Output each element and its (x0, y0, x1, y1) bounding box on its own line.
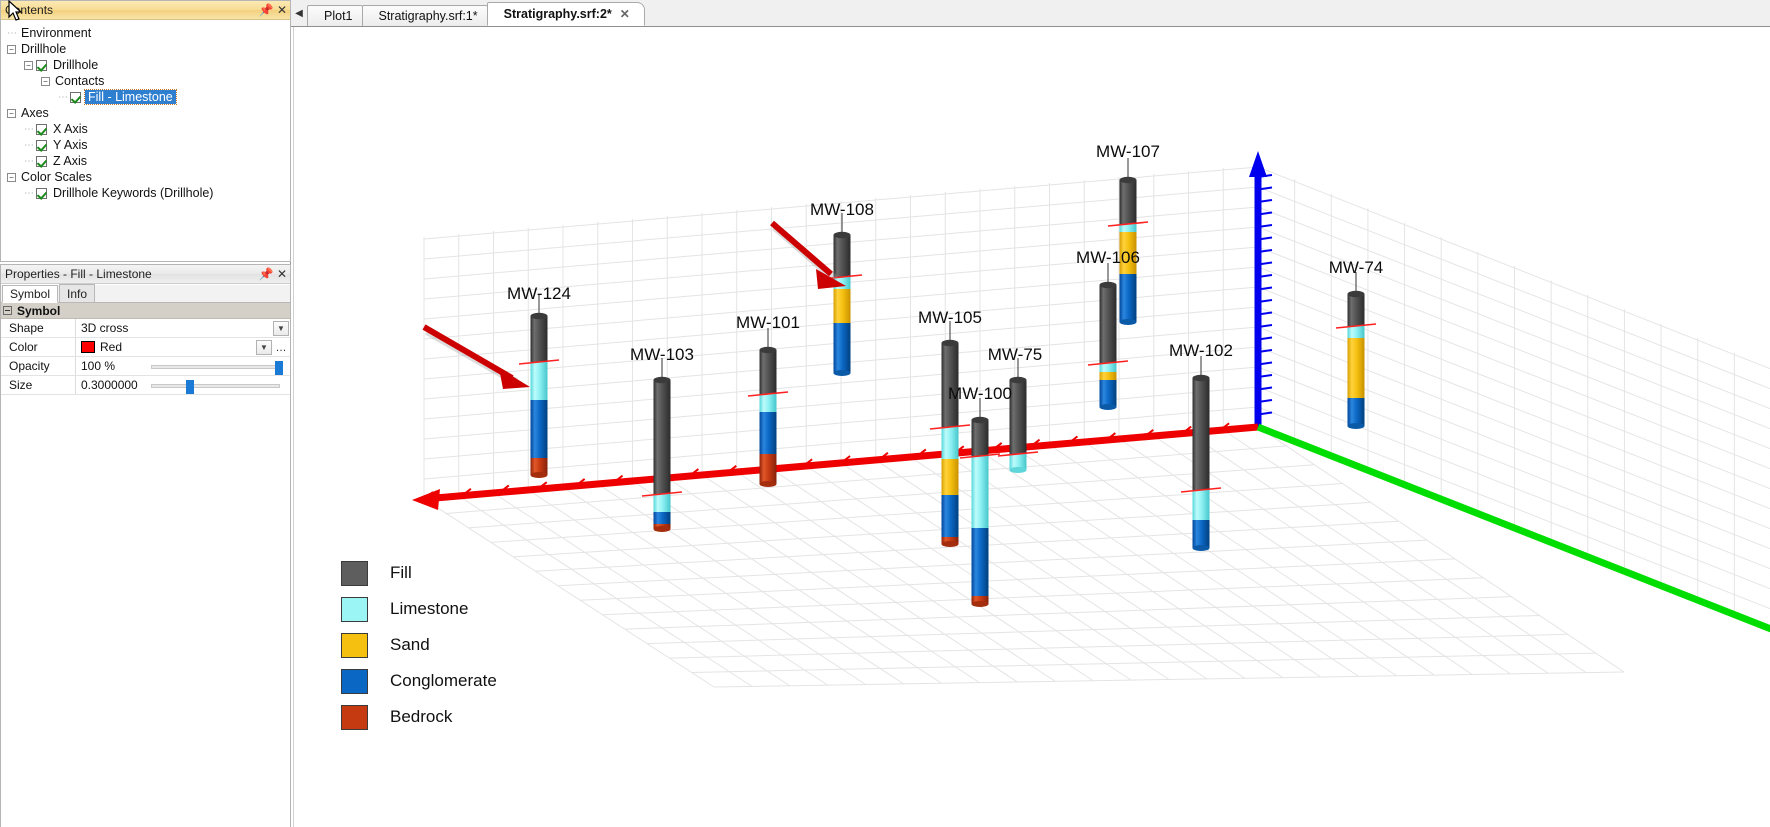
property-value-text: 0.3000000 (81, 378, 138, 392)
drillhole-collar-cap (531, 313, 548, 319)
drillhole-collar-cap (834, 232, 851, 238)
collapse-icon[interactable] (3, 306, 12, 315)
back-wall-grid (424, 165, 1770, 687)
drillhole-label-mw-107: MW-107 (1096, 142, 1160, 162)
drillhole-mw-103[interactable] (642, 358, 682, 532)
drillhole-collar-cap (1120, 177, 1137, 183)
legend-item-conglomerate: Conglomerate (341, 663, 497, 699)
drillhole-segment-conglomerate (1120, 274, 1137, 322)
legend-item-sand: Sand (341, 627, 497, 663)
properties-tab-symbol[interactable]: Symbol (2, 285, 58, 303)
drillhole-label-mw-103: MW-103 (630, 345, 694, 365)
drillhole-segment-limestone (531, 362, 548, 400)
document-tab-label: Plot1 (324, 9, 353, 23)
tree-item-label: Contacts (53, 74, 106, 88)
drillhole-collar-cap (1100, 282, 1117, 288)
properties-panel-title: Properties - Fill - Limestone (5, 267, 258, 281)
drillhole-segment-fill (531, 316, 548, 362)
document-tab-label: Stratigraphy.srf:1* (379, 9, 478, 23)
plot-viewport[interactable]: MW-124MW-103MW-101MW-108MW-105MW-100MW-7… (291, 27, 1770, 827)
drillhole-segment-conglomerate (654, 512, 671, 524)
document-tab-label: Stratigraphy.srf:2* (504, 7, 612, 21)
drillhole-segment-fill (834, 235, 851, 277)
drillhole-segment-limestone (942, 427, 959, 459)
drillhole-bottom-cap (1010, 467, 1027, 473)
drillhole-segment-fill (1010, 380, 1027, 454)
contents-panel: Contents 📌 ✕ ⋯EnvironmentDrillholeDrillh… (0, 0, 291, 262)
drillhole-segment-bedrock (760, 454, 777, 484)
drillhole-collar-cap (1193, 375, 1210, 381)
property-name: Opacity (1, 357, 76, 375)
drillhole-segment-fill (1120, 180, 1137, 224)
checkbox-checked-icon[interactable] (36, 156, 47, 167)
color-swatch[interactable] (81, 341, 95, 353)
contents-tree[interactable]: ⋯EnvironmentDrillholeDrillholeContacts⋯F… (1, 21, 290, 261)
tree-item-drillhole[interactable]: Drillhole (1, 41, 290, 57)
drillhole-label-mw-102: MW-102 (1169, 341, 1233, 361)
properties-tab-bar[interactable]: SymbolInfo (1, 285, 290, 303)
tree-item-label: Environment (19, 26, 93, 40)
drillhole-bottom-cap (1193, 545, 1210, 551)
property-row-opacity[interactable]: Opacity100 % (1, 357, 290, 376)
property-value-text: 3D cross (81, 321, 128, 335)
tree-item-drillhole[interactable]: Drillhole (1, 57, 290, 73)
legend-item-bedrock: Bedrock (341, 699, 497, 735)
drillhole-segment-sand (942, 459, 959, 495)
drillhole-collar-cap (760, 347, 777, 353)
property-row-color[interactable]: ColorRed▼… (1, 338, 290, 357)
drillhole-segment-sand (1100, 372, 1117, 380)
checkbox-checked-icon[interactable] (36, 140, 47, 151)
legend-label: Fill (390, 563, 412, 583)
chevron-down-icon[interactable]: ▼ (273, 321, 289, 336)
legend-label: Conglomerate (390, 671, 497, 691)
application-window: Contents 📌 ✕ ⋯EnvironmentDrillholeDrillh… (0, 0, 1770, 827)
properties-group-label: Symbol (17, 304, 60, 318)
drillhole-segment-limestone (760, 394, 777, 412)
checkbox-checked-icon[interactable] (36, 188, 47, 199)
chevron-down-icon[interactable]: ▼ (256, 340, 272, 355)
drillhole-segment-fill (654, 380, 671, 494)
tree-item-x-axis[interactable]: ⋯X Axis (1, 121, 290, 137)
legend-label: Bedrock (390, 707, 452, 727)
tree-connector: ⋯ (24, 140, 35, 151)
legend-swatch (341, 597, 368, 622)
drillhole-label-mw-108: MW-108 (810, 200, 874, 220)
slider-thumb[interactable] (275, 361, 283, 375)
drillhole-label-mw-106: MW-106 (1076, 248, 1140, 268)
axis-z (1249, 151, 1272, 427)
tree-item-contacts[interactable]: Contacts (1, 73, 290, 89)
drillhole-segment-sand (1348, 338, 1365, 398)
close-icon[interactable]: ✕ (620, 7, 630, 21)
pin-icon[interactable]: 📌 (258, 266, 274, 282)
pin-icon[interactable]: 📌 (258, 2, 274, 18)
tree-item-label: Drillhole Keywords (Drillhole) (51, 186, 215, 200)
drillhole-segment-sand (834, 289, 851, 323)
close-icon[interactable]: ✕ (274, 2, 290, 18)
contents-panel-title: Contents (5, 3, 258, 17)
legend-swatch (341, 561, 368, 586)
tree-item-label: X Axis (51, 122, 90, 136)
expander-icon[interactable] (7, 173, 16, 182)
drillhole-bottom-cap (1120, 319, 1137, 325)
drillhole-collar-cap (1010, 377, 1027, 383)
more-options-button[interactable]: … (273, 340, 289, 355)
contents-panel-titlebar: Contents 📌 ✕ (1, 1, 290, 20)
drillhole-collar-cap (972, 417, 989, 423)
property-value[interactable]: Red▼… (76, 338, 290, 356)
expander-icon[interactable] (7, 45, 16, 54)
drillhole-label-mw-101: MW-101 (736, 313, 800, 333)
drillhole-bottom-cap (531, 472, 548, 478)
drillhole-segment-conglomerate (531, 400, 548, 458)
tree-connector: ⋯ (58, 92, 69, 103)
plot-canvas[interactable]: MW-124MW-103MW-101MW-108MW-105MW-100MW-7… (293, 27, 1770, 827)
drillhole-bottom-cap (972, 601, 989, 607)
tree-connector: ⋯ (24, 156, 35, 167)
properties-grid[interactable]: SymbolShape3D cross▼ColorRed▼…Opacity100… (1, 303, 290, 395)
tree-item-drillhole-keywords-drillhole[interactable]: ⋯Drillhole Keywords (Drillhole) (1, 185, 290, 201)
stratigraphy-legend: FillLimestoneSandConglomerateBedrock (341, 555, 497, 735)
legend-item-fill: Fill (341, 555, 497, 591)
legend-label: Limestone (390, 599, 468, 619)
tree-item-label: Drillhole (51, 58, 100, 72)
checkbox-checked-icon[interactable] (36, 60, 47, 71)
main-area: ◀ Plot1Stratigraphy.srf:1*Stratigraphy.s… (291, 0, 1770, 827)
tree-item-axes[interactable]: Axes (1, 105, 290, 121)
tree-item-label: Drillhole (19, 42, 68, 56)
legend-label: Sand (390, 635, 430, 655)
checkbox-checked-icon[interactable] (36, 124, 47, 135)
legend-swatch (341, 633, 368, 658)
property-name: Color (1, 338, 76, 356)
drillhole-segment-conglomerate (760, 412, 777, 454)
legend-swatch (341, 705, 368, 730)
tree-item-color-scales[interactable]: Color Scales (1, 169, 290, 185)
legend-item-limestone: Limestone (341, 591, 497, 627)
property-value-text: 100 % (81, 359, 127, 373)
drillhole-segment-conglomerate (1100, 380, 1117, 407)
drillhole-collar-cap (942, 340, 959, 346)
expander-icon[interactable] (41, 77, 50, 86)
drillhole-bottom-cap (834, 370, 851, 376)
drillhole-label-mw-75: MW-75 (988, 345, 1042, 365)
tree-connector: ⋯ (24, 188, 35, 199)
drillhole-bottom-cap (760, 481, 777, 487)
drillhole-collar-cap (654, 377, 671, 383)
drillhole-label-mw-74: MW-74 (1329, 258, 1383, 278)
property-row-size[interactable]: Size0.3000000 (1, 376, 290, 395)
tree-connector: ⋯ (24, 124, 35, 135)
drillhole-label-mw-124: MW-124 (507, 284, 571, 304)
drillhole-segment-limestone (654, 494, 671, 512)
drillhole-mw-75[interactable] (998, 358, 1038, 473)
drillhole-bottom-cap (1348, 423, 1365, 429)
document-tab-bar[interactable]: ◀ Plot1Stratigraphy.srf:1*Stratigraphy.s… (291, 0, 1770, 27)
mouse-cursor-icon (8, 0, 26, 24)
chevron-left-icon[interactable]: ◀ (291, 0, 307, 26)
drillhole-segment-conglomerate (942, 495, 959, 537)
left-dock: Contents 📌 ✕ ⋯EnvironmentDrillholeDrillh… (0, 0, 291, 827)
property-value[interactable]: 100 % (76, 357, 290, 375)
drillhole-mw-74[interactable] (1336, 272, 1376, 429)
drillhole-label-mw-100: MW-100 (948, 384, 1012, 404)
document-tab-stratigraphy-srf-2-[interactable]: Stratigraphy.srf:2*✕ (487, 2, 645, 26)
tree-item-fill-limestone[interactable]: ⋯Fill - Limestone (1, 89, 290, 105)
properties-panel: Properties - Fill - Limestone 📌 ✕ Symbol… (0, 264, 291, 827)
expander-icon[interactable] (7, 109, 16, 118)
tree-item-label: Fill - Limestone (85, 90, 176, 104)
close-icon[interactable]: ✕ (274, 266, 290, 282)
slider-track[interactable] (151, 365, 280, 369)
drillhole-group[interactable] (519, 158, 1376, 607)
property-value[interactable]: 0.3000000 (76, 376, 290, 394)
drillhole-mw-101[interactable] (748, 328, 788, 487)
property-value-text: Red (100, 340, 146, 354)
tree-item-y-axis[interactable]: ⋯Y Axis (1, 137, 290, 153)
drillhole-segment-fill (1348, 294, 1365, 326)
drillhole-segment-conglomerate (1193, 520, 1210, 548)
scene-3d (294, 27, 1770, 827)
property-name: Size (1, 376, 76, 394)
properties-group-header[interactable]: Symbol (1, 303, 290, 319)
drillhole-bottom-cap (1100, 404, 1117, 410)
property-value[interactable]: 3D cross▼ (76, 319, 290, 337)
drillhole-bottom-cap (654, 526, 671, 532)
tree-item-label: Y Axis (51, 138, 90, 152)
slider-track[interactable] (151, 384, 280, 388)
tree-item-label: Z Axis (51, 154, 89, 168)
drillhole-segment-limestone (972, 456, 989, 528)
drillhole-bottom-cap (942, 541, 959, 547)
drillhole-segment-conglomerate (1348, 398, 1365, 426)
property-name: Shape (1, 319, 76, 337)
properties-tab-info[interactable]: Info (59, 284, 95, 302)
tree-item-environment[interactable]: ⋯Environment (1, 25, 290, 41)
properties-panel-titlebar: Properties - Fill - Limestone 📌 ✕ (1, 265, 290, 284)
drillhole-segment-limestone (1348, 326, 1365, 338)
drillhole-collar-cap (1348, 291, 1365, 297)
legend-swatch (341, 669, 368, 694)
drillhole-segment-fill (1100, 285, 1117, 363)
document-tab-stratigraphy-srf-1-[interactable]: Stratigraphy.srf:1* (362, 5, 493, 26)
drillhole-segment-limestone (1193, 490, 1210, 520)
drillhole-segment-fill (760, 350, 777, 394)
drillhole-mw-108[interactable] (822, 213, 862, 376)
drillhole-segment-fill (1193, 378, 1210, 490)
drillhole-label-mw-105: MW-105 (918, 308, 982, 328)
tree-item-label: Axes (19, 106, 51, 120)
document-tab-plot1[interactable]: Plot1 (307, 5, 368, 26)
expander-icon[interactable] (24, 61, 33, 70)
drillhole-segment-conglomerate (834, 323, 851, 373)
tree-item-label: Color Scales (19, 170, 94, 184)
drillhole-segment-fill (972, 420, 989, 456)
tree-connector: ⋯ (7, 28, 18, 39)
property-row-shape[interactable]: Shape3D cross▼ (1, 319, 290, 338)
tree-item-z-axis[interactable]: ⋯Z Axis (1, 153, 290, 169)
slider-thumb[interactable] (186, 380, 194, 394)
drillhole-segment-conglomerate (972, 528, 989, 596)
checkbox-checked-icon[interactable] (70, 92, 81, 103)
